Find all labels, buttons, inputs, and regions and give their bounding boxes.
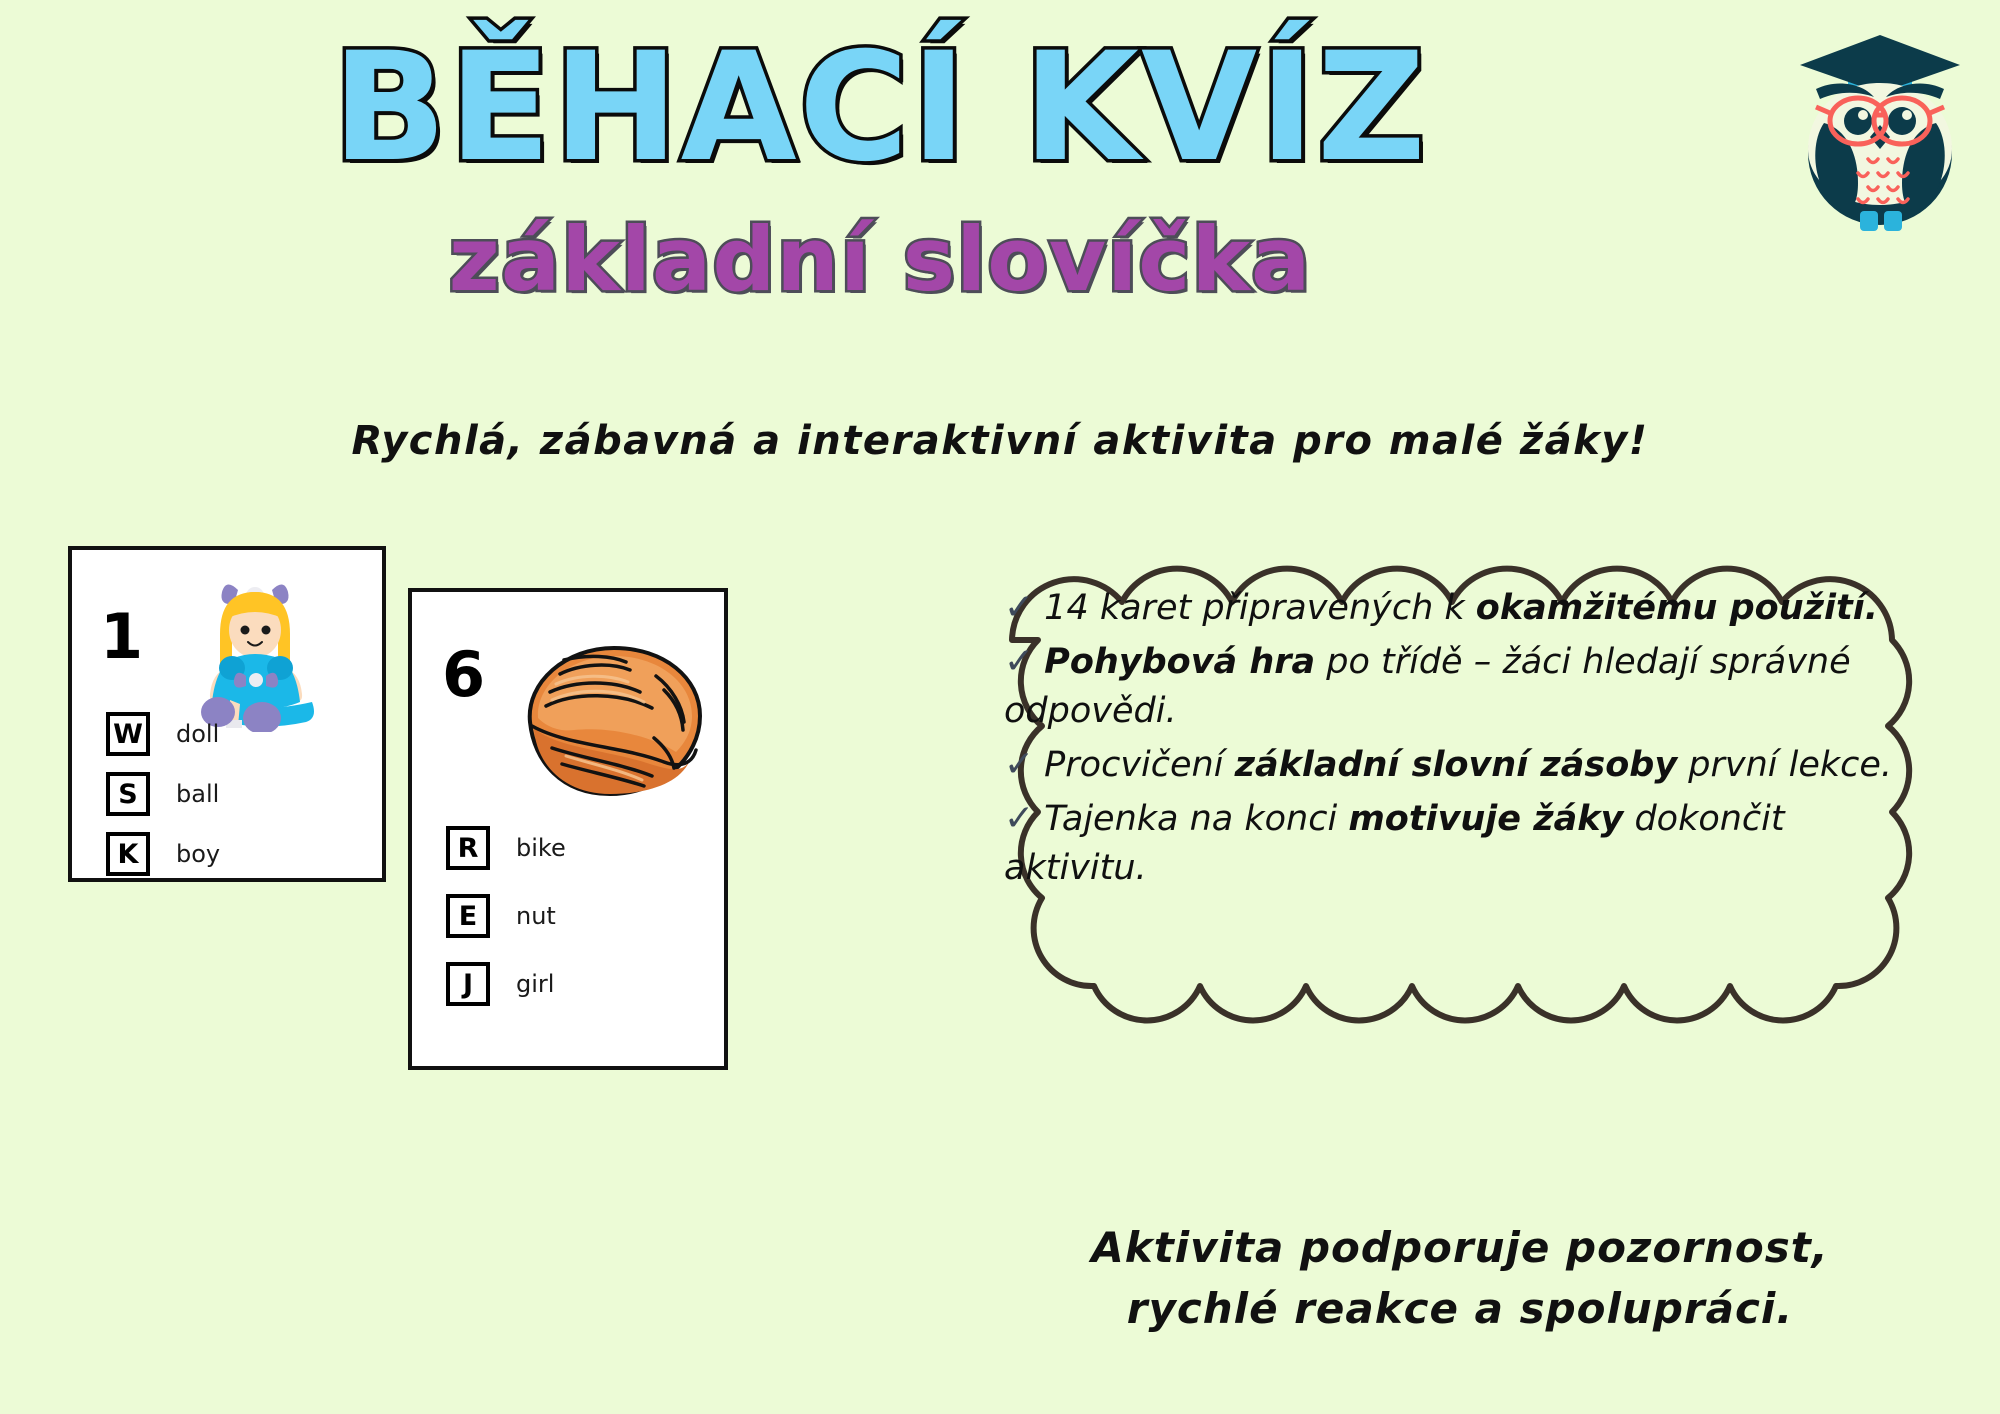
option-row[interactable]: S ball	[106, 770, 220, 818]
option-letter-box[interactable]: J	[446, 962, 490, 1006]
option-letter-box[interactable]: S	[106, 772, 150, 816]
card-number: 6	[442, 644, 485, 706]
doll-illustration	[190, 572, 340, 732]
tagline: Rychlá, zábavná a interaktivní aktivita …	[0, 418, 2000, 464]
option-letter-box[interactable]: W	[106, 712, 150, 756]
option-word: ball	[176, 780, 219, 808]
check-icon: ✓	[1004, 793, 1034, 844]
features-cloud-bubble: ✓14 karet připravených k okamžitému použ…	[952, 520, 1952, 1160]
feature-text-2: Pohybová hra po třídě – žáci hledají spr…	[1004, 642, 1851, 732]
option-word: doll	[176, 720, 219, 748]
option-letter-box[interactable]: K	[106, 832, 150, 876]
page-subtitle: základní slovíčka	[0, 208, 1760, 311]
feature-item-2: ✓Pohybová hra po třídě – žáci hledají sp…	[1004, 636, 1904, 737]
owl-graduate-logo	[1780, 25, 1980, 235]
feature-item-1: ✓14 karet připravených k okamžitému použ…	[1004, 582, 1904, 634]
walnut-illustration	[504, 630, 714, 810]
option-row[interactable]: K boy	[106, 830, 220, 878]
feature-text-1: 14 karet připravených k okamžitému použi…	[1044, 588, 1878, 628]
feature-item-3: ✓Procvičení základní slovní zásoby první…	[1004, 739, 1904, 791]
option-word: boy	[176, 840, 220, 868]
option-row[interactable]: R bike	[446, 824, 566, 872]
feature-item-4: ✓Tajenka na konci motivuje žáky dokončit…	[1004, 793, 1904, 894]
page-title: BĚHACÍ KVÍZ	[0, 30, 1760, 188]
footer-note: Aktivita podporuje pozornost, rychlé rea…	[1000, 1218, 1920, 1340]
check-icon: ✓	[1004, 739, 1034, 790]
card-number: 1	[100, 606, 143, 668]
check-icon: ✓	[1004, 636, 1034, 687]
option-letter-box[interactable]: R	[446, 826, 490, 870]
feature-text-3: Procvičení základní slovní zásoby první …	[1044, 745, 1892, 785]
features-list: ✓14 karet připravených k okamžitému použ…	[1004, 582, 1904, 896]
option-word: bike	[516, 834, 566, 862]
check-icon: ✓	[1004, 582, 1034, 633]
option-letter-box[interactable]: E	[446, 894, 490, 938]
option-word: girl	[516, 970, 554, 998]
option-row[interactable]: W doll	[106, 710, 220, 758]
footer-line-1: Aktivita podporuje pozornost,	[1000, 1218, 1920, 1279]
option-word: nut	[516, 902, 556, 930]
footer-line-2: rychlé reakce a spolupráci.	[1000, 1279, 1920, 1340]
card-options: R bike E nut J girl	[446, 824, 566, 1028]
quiz-card-1: 1	[68, 546, 386, 882]
quiz-card-6: 6	[408, 588, 728, 1070]
option-row[interactable]: J girl	[446, 960, 566, 1008]
card-options: W doll S ball K boy	[106, 710, 220, 890]
feature-text-4: Tajenka na konci motivuje žáky dokončit …	[1004, 799, 1785, 889]
option-row[interactable]: E nut	[446, 892, 566, 940]
